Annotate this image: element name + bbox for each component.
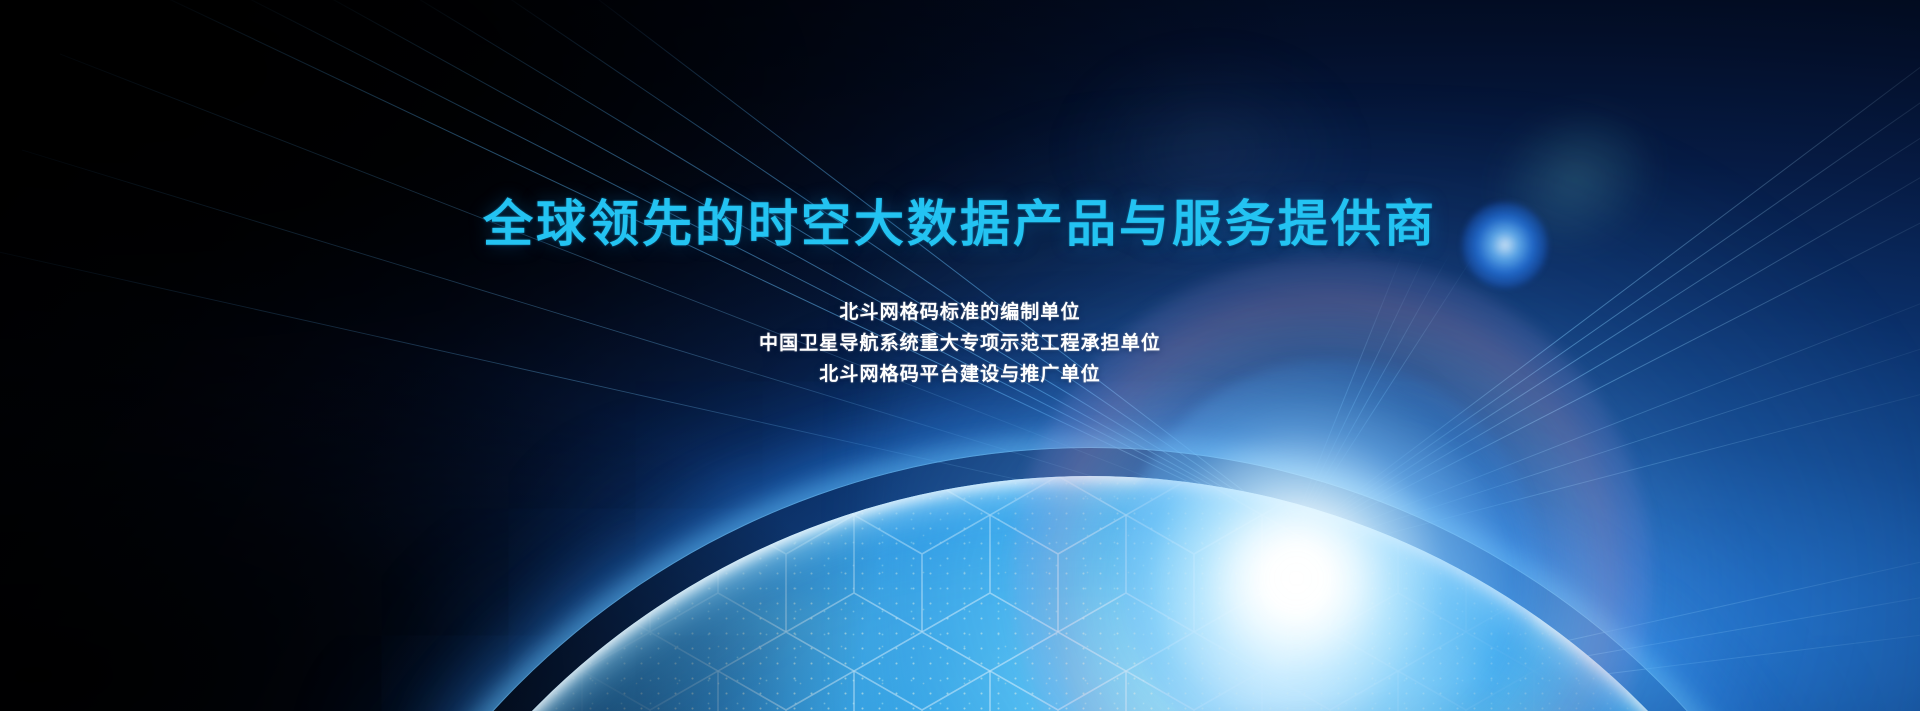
banner-subtitle-2: 中国卫星导航系统重大专项示范工程承担单位 bbox=[0, 328, 1920, 359]
banner-subtitle-1: 北斗网格码标准的编制单位 bbox=[0, 297, 1920, 328]
banner-subtitle-list: 北斗网格码标准的编制单位 中国卫星导航系统重大专项示范工程承担单位 北斗网格码平… bbox=[0, 297, 1920, 390]
banner-subtitle-3: 北斗网格码平台建设与推广单位 bbox=[0, 359, 1920, 390]
earth-sphere bbox=[310, 476, 1870, 711]
hero-banner: 全球领先的时空大数据产品与服务提供商 北斗网格码标准的编制单位 中国卫星导航系统… bbox=[0, 0, 1920, 711]
banner-copy: 全球领先的时空大数据产品与服务提供商 北斗网格码标准的编制单位 中国卫星导航系统… bbox=[0, 196, 1920, 390]
banner-headline: 全球领先的时空大数据产品与服务提供商 bbox=[0, 196, 1920, 252]
